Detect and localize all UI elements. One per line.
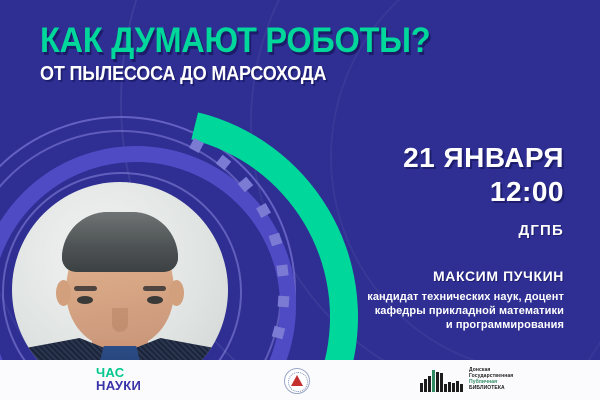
- university-seal-icon: [284, 368, 310, 394]
- footer-logo-bar: ЧАС НАУКИ Донская Государственная Публич…: [0, 360, 600, 400]
- speaker-role-line: кафедры прикладной математики: [314, 304, 564, 318]
- speaker-role-line: и программирования: [314, 318, 564, 332]
- speaker-name: МАКСИМ ПУЧКИН: [314, 268, 564, 285]
- speaker-role: кандидат технических наук, доцент кафедр…: [314, 290, 564, 332]
- speaker-block: МАКСИМ ПУЧКИН кандидат технических наук,…: [314, 268, 564, 332]
- event-details-block: 21 ЯНВАРЯ 12:00 ДГПБ: [403, 142, 564, 240]
- portrait-hair-top: [62, 212, 178, 272]
- event-date: 21 ЯНВАРЯ: [403, 142, 564, 174]
- poster-subtitle: ОТ ПЫЛЕСОСА ДО МАРСОХОДА: [40, 63, 418, 86]
- dashed-arc-tick: [277, 264, 289, 276]
- portrait-eye-right: [147, 296, 163, 304]
- dashed-arc-tick: [278, 296, 290, 308]
- books-bars-icon: [420, 370, 463, 392]
- library-name-text: Донская Государственная Публичная БИБЛИО…: [469, 367, 513, 392]
- portrait-circle-graphic: [0, 110, 300, 400]
- event-poster: КАК ДУМАЮТ РОБОТЫ? ОТ ПЫЛЕСОСА ДО МАРСОХ…: [0, 0, 600, 400]
- poster-title: КАК ДУМАЮТ РОБОТЫ?: [40, 22, 430, 60]
- event-time: 12:00: [403, 174, 564, 210]
- poster-title-block: КАК ДУМАЮТ РОБОТЫ? ОТ ПЫЛЕСОСА ДО МАРСОХ…: [40, 22, 460, 86]
- seal-triangle-emblem: [291, 375, 303, 386]
- portrait-ear-left: [56, 280, 71, 306]
- speaker-role-line: кандидат технических наук, доцент: [314, 290, 564, 304]
- logo-chas-nauki-line-2: НАУКИ: [96, 379, 141, 392]
- logo-chas-nauki: ЧАС НАУКИ: [96, 366, 141, 392]
- event-venue: ДГПБ: [403, 222, 564, 240]
- portrait-brow-left: [74, 286, 97, 291]
- portrait-eye-left: [77, 296, 93, 304]
- logo-library: Донская Государственная Публичная БИБЛИО…: [420, 367, 513, 392]
- portrait-ear-right: [169, 280, 184, 306]
- library-line-4: БИБЛИОТЕКА: [469, 385, 513, 391]
- portrait-brow-right: [143, 286, 166, 291]
- portrait-nose: [112, 308, 128, 332]
